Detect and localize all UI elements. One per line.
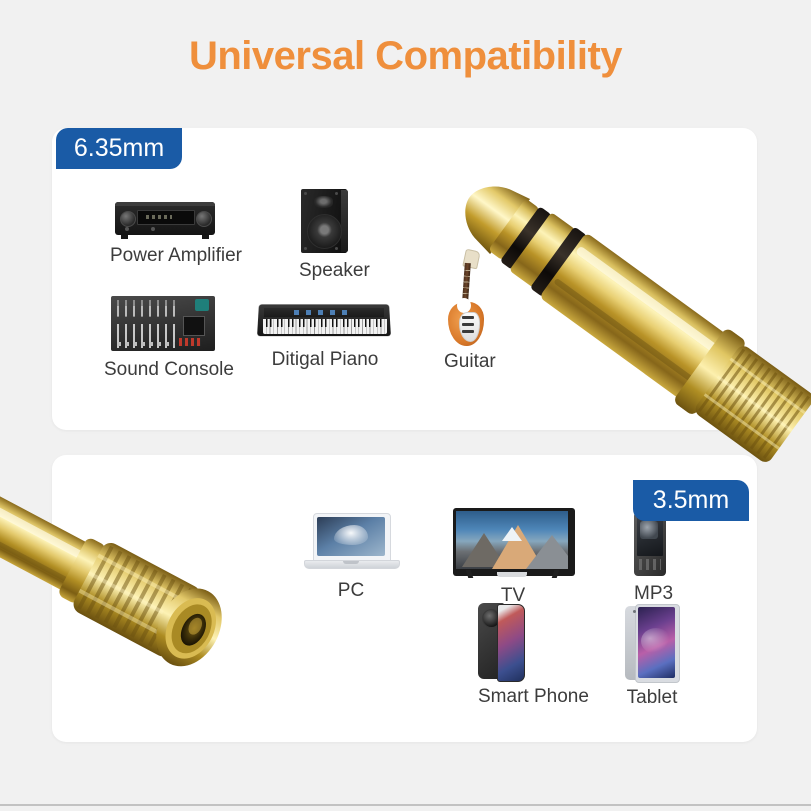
device-power-amplifier: Power Amplifier: [110, 196, 220, 267]
device-smart-phone: Smart Phone: [478, 603, 524, 708]
panel-6-35mm: [52, 128, 757, 430]
device-label: PC: [304, 580, 398, 602]
device-label: Tablet: [625, 687, 679, 709]
device-label: Ditigal Piano: [258, 349, 392, 371]
device-speaker: Speaker: [299, 189, 353, 282]
smartphone-icon: [478, 603, 524, 681]
device-label: Power Amplifier: [110, 245, 220, 267]
device-label: Sound Console: [104, 359, 224, 381]
device-pc: PC: [304, 513, 398, 602]
speaker-icon: [301, 189, 351, 255]
sound-console-icon: [111, 292, 217, 354]
device-mp3: MP3: [634, 512, 668, 605]
device-digital-piano: Ditigal Piano: [258, 300, 392, 371]
device-label: Smart Phone: [478, 686, 524, 708]
device-guitar: Guitar: [444, 250, 486, 373]
television-icon: [453, 508, 573, 580]
mp3-player-icon: [634, 512, 668, 578]
digital-piano-icon: [258, 300, 392, 344]
device-label: Speaker: [299, 260, 353, 282]
page-title: Universal Compatibility: [0, 34, 811, 79]
badge-3-5mm: 3.5mm: [633, 480, 749, 521]
device-label: Guitar: [444, 351, 486, 373]
laptop-icon: [304, 513, 398, 575]
tablet-icon: [625, 604, 679, 682]
guitar-icon: [444, 250, 486, 346]
power-amplifier-icon: [111, 196, 219, 240]
device-sound-console: Sound Console: [104, 292, 224, 381]
device-label: MP3: [634, 583, 668, 605]
badge-6-35mm: 6.35mm: [56, 128, 182, 169]
device-tablet: Tablet: [625, 604, 679, 709]
infographic-canvas: Universal Compatibility 6.35mm Power Amp…: [0, 0, 811, 811]
footer-divider: [0, 804, 811, 806]
device-tv: TV: [453, 508, 573, 607]
